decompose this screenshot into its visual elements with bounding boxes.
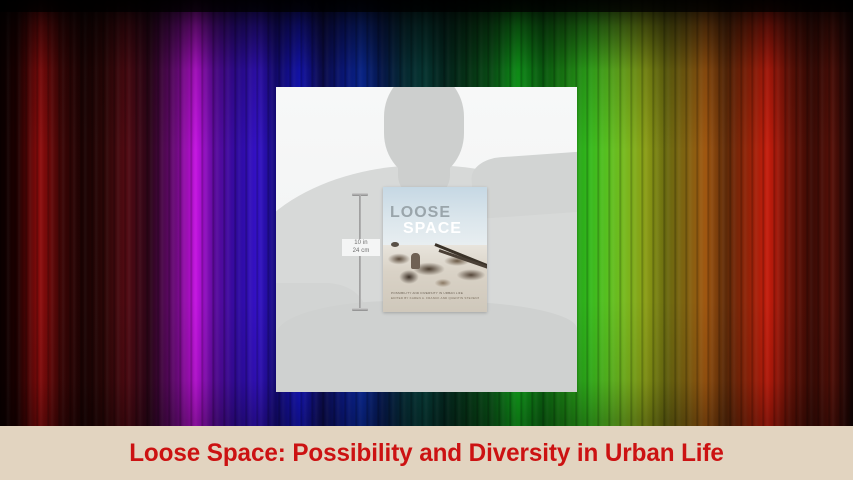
page-root: LOOSE SPACE POSSIBILITY AND DIVERSITY IN… — [0, 0, 853, 480]
cover-photo-person — [411, 253, 420, 269]
dimension-ruler: 10 in 24 cm — [351, 193, 369, 312]
cover-title-line1: LOOSE — [390, 205, 462, 221]
ruler-cap-bottom-icon — [352, 308, 368, 311]
cover-subtitle: POSSIBILITY AND DIVERSITY IN URBAN LIFE … — [391, 291, 479, 300]
cover-title: LOOSE SPACE — [390, 205, 462, 238]
cover-photo-rubble — [385, 249, 485, 291]
cover-subtitle-line2: EDITED BY KAREN A. FRANCK AND QUENTIN ST… — [391, 296, 479, 300]
ruler-inches-label: 10 in — [342, 240, 380, 248]
cover-title-line2: SPACE — [403, 221, 462, 237]
cover-subtitle-line1: POSSIBILITY AND DIVERSITY IN URBAN LIFE — [391, 291, 479, 295]
title-bar: Loose Space: Possibility and Diversity i… — [0, 426, 853, 480]
book-cover-image[interactable]: LOOSE SPACE POSSIBILITY AND DIVERSITY IN… — [383, 187, 487, 312]
cover-photo-bird-icon — [391, 242, 399, 247]
top-dark-band — [0, 0, 853, 12]
ruler-measurement-labels: 10 in 24 cm — [342, 239, 380, 256]
ruler-centimeters-label: 24 cm — [342, 248, 380, 256]
person-silhouette-head — [384, 87, 464, 179]
page-title: Loose Space: Possibility and Diversity i… — [129, 439, 724, 468]
person-silhouette-lap — [276, 301, 577, 392]
